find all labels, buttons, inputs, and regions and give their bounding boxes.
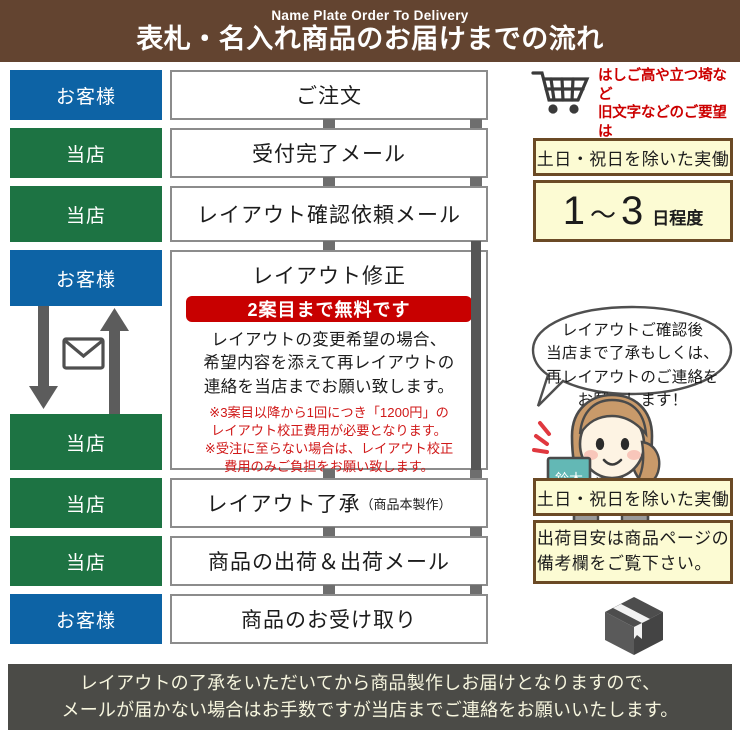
footer-line-2: メールが届かない場合はお手数ですが当店までご連絡をお願いいたします。: [62, 697, 679, 724]
actor-label: お客様: [56, 265, 116, 292]
envelope-icon: [64, 339, 103, 368]
duration-value: 1 〜 3 日程度: [563, 191, 704, 231]
connector-tab-right: [470, 469, 482, 478]
layout-fix-title: レイアウト修正: [252, 260, 406, 290]
layout-fix-body-line: 連絡を当店までお願い致します。: [203, 376, 454, 399]
staff-cheek-right: [627, 450, 641, 460]
actor-badge-customer-2: お客様: [10, 250, 162, 306]
flow-step-receipt-mail[interactable]: 受付完了メール: [170, 128, 488, 178]
bubble-line: 当店まで了承もしくは、: [530, 342, 735, 365]
layout-fix-body-line: 希望内容を添えて再レイアウトの: [203, 352, 454, 375]
duration-box: 1 〜 3 日程度: [533, 180, 733, 242]
layout-fix-note-line: ※3案目以降から1回につき「1200円」の: [205, 404, 453, 422]
layout-fix-body: レイアウトの変更希望の場合、 希望内容を添えて再レイアウトの 連絡を当店までお願…: [203, 329, 454, 399]
actor-label: 当店: [66, 490, 106, 517]
duration-tilde: 〜: [590, 202, 616, 228]
header-english-title: Name Plate Order To Delivery: [271, 9, 468, 23]
connector-tab-right: [470, 119, 482, 128]
staff-eye-right: [621, 438, 629, 450]
connector-tab: [323, 585, 335, 594]
flow-step-label: レイアウト了承: [206, 488, 360, 518]
connector-tab: [323, 241, 335, 250]
staff-eye-left: [596, 438, 604, 450]
arrow-down-head: [29, 386, 58, 409]
free-revision-banner: 2案目まで無料です: [186, 296, 472, 322]
connector-tab: [323, 469, 335, 478]
flow-step-layout-approved[interactable]: レイアウト了承（商品本製作）: [170, 478, 488, 528]
layout-fix-note: ※3案目以降から1回につき「1200円」の レイアウト校正費用が必要となります。…: [205, 404, 453, 476]
flow-step-label: ご注文: [296, 80, 362, 110]
flow-step-order[interactable]: ご注文: [170, 70, 488, 120]
actor-badge-shop-5: 当店: [10, 536, 162, 586]
feedback-loop-arrows: [10, 306, 162, 416]
actor-badge-shop-2: 当店: [10, 186, 162, 242]
bubble-line: 再レイアウトのご連絡を: [530, 366, 735, 389]
cart-note-line: 旧文字などのご要望は: [598, 104, 740, 141]
shipping-note-line: 備考欄をご覧下さい。: [537, 552, 729, 577]
actor-label: 当店: [66, 429, 106, 456]
arrow-down-shaft: [38, 306, 49, 388]
duration-unit: 日程度: [652, 210, 703, 227]
duration-to: 3: [621, 191, 643, 231]
actor-label: 当店: [66, 201, 106, 228]
flow-step-label: 商品の出荷＆出荷メール: [208, 546, 450, 576]
flow-step-label: 商品のお受け取り: [241, 604, 417, 634]
flow-step-shipping[interactable]: 商品の出荷＆出荷メール: [170, 536, 488, 586]
actor-label: 当店: [66, 548, 106, 575]
connector-rail: [471, 241, 481, 470]
connector-tab: [323, 177, 335, 186]
connector-tab-right: [470, 585, 482, 594]
parcel-box-icon: [601, 595, 667, 657]
actor-label: お客様: [56, 606, 116, 633]
actor-badge-shop-3: 当店: [10, 414, 162, 470]
shipping-note-line: 出荷目安は商品ページの: [537, 527, 729, 552]
flow-step-receive[interactable]: 商品のお受け取り: [170, 594, 488, 644]
arrow-up-shaft: [109, 328, 120, 414]
actor-badge-customer-1: お客様: [10, 70, 162, 120]
layout-fix-note-line: ※受注に至らない場合は、レイアウト校正: [205, 440, 453, 458]
shipping-note-box: 出荷目安は商品ページの 備考欄をご覧下さい。: [533, 520, 733, 584]
cart-note-line: はしご高や立つ埼など: [598, 67, 740, 104]
shopping-cart-icon: [531, 68, 593, 116]
flow-step-sublabel: （商品本製作）: [360, 494, 451, 513]
workdays-note-1: 土日・祝日を除いた実働: [533, 138, 733, 176]
connector-tab: [323, 119, 335, 128]
layout-fix-body-line: レイアウトの変更希望の場合、: [203, 329, 454, 352]
page-title: 表札・名入れ商品のお届けまでの流れ: [136, 25, 604, 53]
actor-label: お客様: [56, 82, 116, 109]
flow-step-label: 受付完了メール: [252, 138, 406, 168]
actor-badge-customer-3: お客様: [10, 594, 162, 644]
actor-label: 当店: [66, 140, 106, 167]
connector-tab-right: [470, 527, 482, 536]
layout-fix-note-line: レイアウト校正費用が必要となります。: [205, 422, 453, 440]
sparkle-marks: [534, 423, 549, 452]
workdays-label: 土日・祝日を除いた実働: [537, 145, 730, 170]
flow-step-label: レイアウト確認依頼メール: [197, 199, 461, 229]
page-header: Name Plate Order To Delivery 表札・名入れ商品のお届…: [0, 0, 740, 62]
flow-diagram: お客様 当店 当店 お客様 当店 当店 当店 お客様 ご注文 受付完了メール レ…: [0, 62, 740, 660]
connector-tab-right: [470, 177, 482, 186]
flow-step-layout-revision[interactable]: レイアウト修正 2案目まで無料です レイアウトの変更希望の場合、 希望内容を添え…: [170, 250, 488, 470]
duration-from: 1: [563, 191, 585, 231]
footer-line-1: レイアウトの了承をいただいてから商品製作しお届けとなりますので、: [80, 670, 661, 697]
workdays-note-2: 土日・祝日を除いた実働: [533, 478, 733, 516]
connector-tab: [323, 527, 335, 536]
page-footer: レイアウトの了承をいただいてから商品製作しお届けとなりますので、 メールが届かな…: [8, 664, 732, 730]
arrow-up-head: [100, 308, 129, 331]
workdays-label: 土日・祝日を除いた実働: [537, 485, 730, 510]
flow-step-layout-confirm-mail[interactable]: レイアウト確認依頼メール: [170, 186, 488, 242]
actor-badge-shop-1: 当店: [10, 128, 162, 178]
shipping-note-text: 出荷目安は商品ページの 備考欄をご覧下さい。: [537, 527, 729, 576]
actor-badge-shop-4: 当店: [10, 478, 162, 528]
bubble-line: レイアウトご確認後: [530, 319, 735, 342]
